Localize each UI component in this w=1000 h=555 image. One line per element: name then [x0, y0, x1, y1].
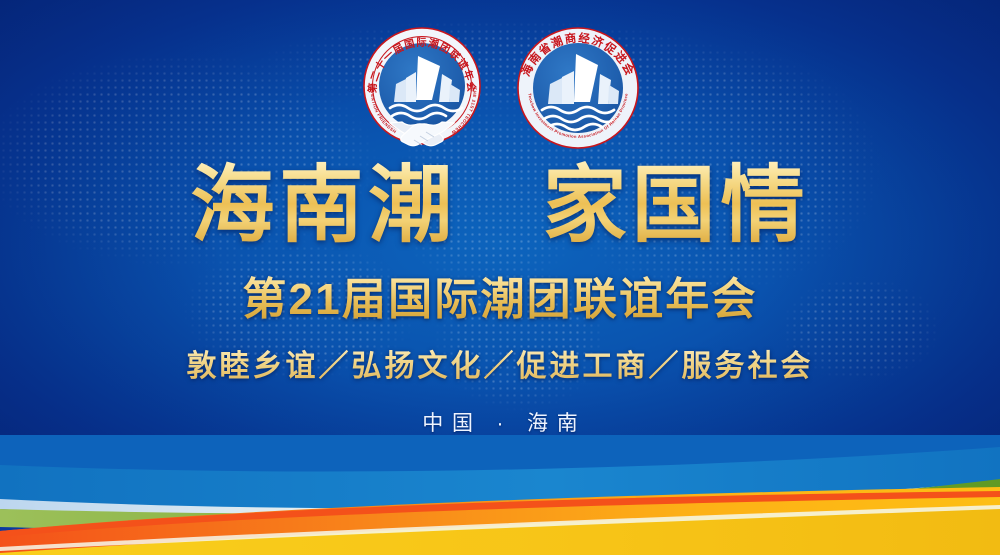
event-subtitle: 第21届国际潮团联谊年会: [0, 263, 1000, 327]
headline-block: 海南潮 家国情 第21届国际潮团联谊年会 敦睦乡谊／弘扬文化／促进工商／服务社会…: [0, 160, 1000, 437]
hainan-teochew-business-association-emblem: 海南省潮商经济促进会 Teochew Investment Promotion …: [512, 22, 644, 154]
poster-canvas: 第二十一届国际潮团联谊年会 CONVENTION FRIENDSHIP THE …: [0, 0, 1000, 555]
event-location: 中国 · 海南: [0, 407, 1000, 437]
page-title: 海南潮 家国情: [0, 160, 1000, 251]
event-tagline: 敦睦乡谊／弘扬文化／促进工商／服务社会: [0, 341, 1000, 385]
emblem-row: 第二十一届国际潮团联谊年会 CONVENTION FRIENDSHIP THE …: [0, 22, 1000, 162]
bottom-ribbon: [0, 435, 1000, 555]
international-teochew-federation-convention-emblem: 第二十一届国际潮团联谊年会 CONVENTION FRIENDSHIP THE …: [356, 22, 488, 154]
